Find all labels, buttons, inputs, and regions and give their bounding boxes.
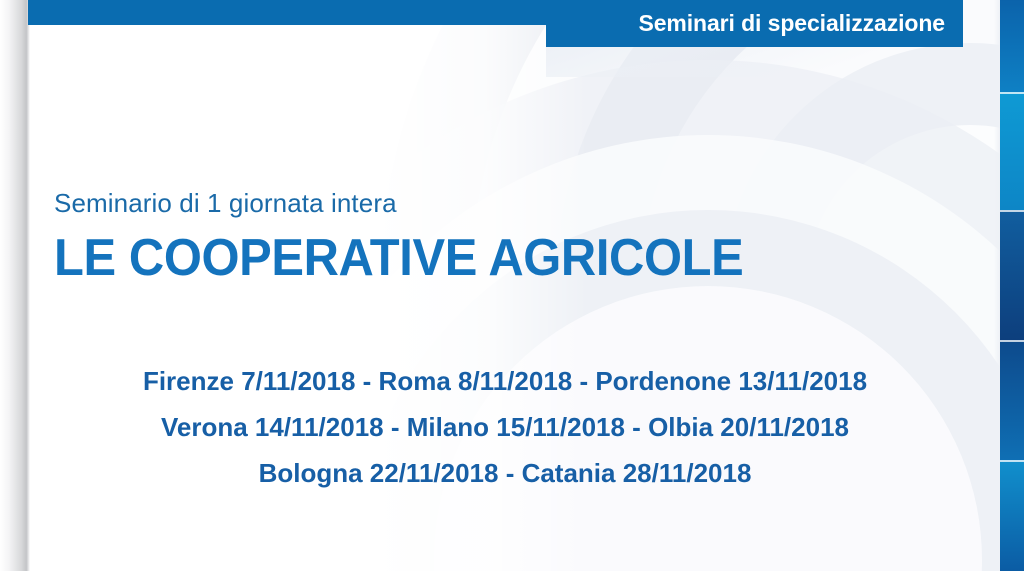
strip-facet-4 <box>1000 340 1024 460</box>
strip-highlight-3 <box>1000 340 1024 342</box>
seminar-kicker: Seminario di 1 giornata intera <box>54 188 397 219</box>
strip-facet-5 <box>1000 460 1024 571</box>
strip-facet-1 <box>1000 0 1024 92</box>
poster-copy: Seminario di 1 giornata intera LE COOPER… <box>0 0 1000 571</box>
right-decorative-strip <box>1000 0 1024 571</box>
strip-highlight-1 <box>1000 92 1024 94</box>
date-line: Bologna 22/11/2018 - Catania 28/11/2018 <box>40 450 970 496</box>
strip-facet-2 <box>1000 92 1024 210</box>
date-line: Verona 14/11/2018 - Milano 15/11/2018 - … <box>40 404 970 450</box>
seminar-headline: LE COOPERATIVE AGRICOLE <box>54 228 743 288</box>
strip-facet-3 <box>1000 210 1024 340</box>
strip-highlight-4 <box>1000 460 1024 462</box>
seminar-dates: Firenze 7/11/2018 - Roma 8/11/2018 - Por… <box>40 358 970 496</box>
date-line: Firenze 7/11/2018 - Roma 8/11/2018 - Por… <box>40 358 970 404</box>
strip-highlight-2 <box>1000 210 1024 212</box>
seminar-poster: Seminari di specializzazione Seminario d… <box>0 0 1024 571</box>
